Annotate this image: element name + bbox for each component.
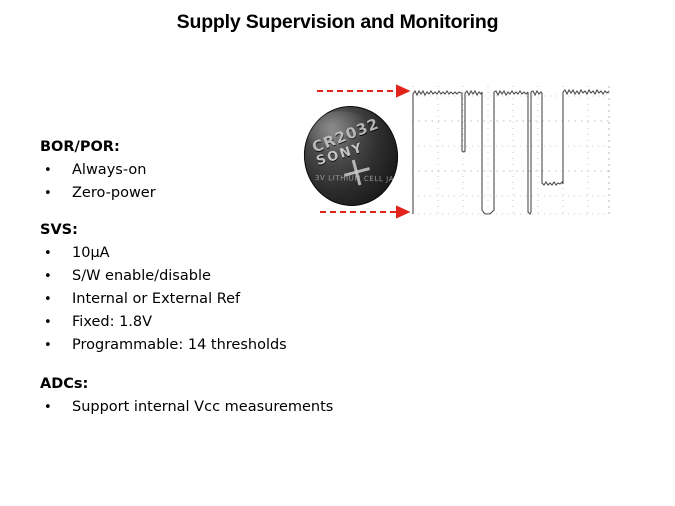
figure-supply-monitoring: CR2032 SONY 3V LITHIUM CELL JAPAN xyxy=(300,70,620,230)
list-item: • Fixed: 1.8V xyxy=(40,311,460,334)
list-item-label: Support internal Vcc measurements xyxy=(72,396,333,419)
list-item: • Support internal Vcc measurements xyxy=(40,396,460,419)
group-svs: SVS: • 10µA • S/W enable/disable • Inter… xyxy=(40,219,460,357)
scope-svg xyxy=(410,78,620,226)
list-item-label: Fixed: 1.8V xyxy=(72,311,152,334)
scope-trace xyxy=(413,90,609,214)
list-item-label: Zero-power xyxy=(72,182,156,205)
scope-grid xyxy=(412,86,610,218)
spacer xyxy=(40,357,460,373)
battery-spec-label: 3V LITHIUM CELL JAPAN xyxy=(315,174,404,184)
bullet-icon: • xyxy=(40,242,72,265)
battery-image: CR2032 SONY 3V LITHIUM CELL JAPAN xyxy=(304,106,400,214)
scope-plot xyxy=(410,78,620,226)
bullet-icon: • xyxy=(40,396,72,419)
list-item: • Programmable: 14 thresholds xyxy=(40,334,460,357)
battery-face: CR2032 SONY 3V LITHIUM CELL JAPAN xyxy=(298,101,403,212)
bullet-icon: • xyxy=(40,159,72,182)
bullet-icon: • xyxy=(40,288,72,311)
group-heading-adcs: ADCs: xyxy=(40,373,460,396)
bullet-icon: • xyxy=(40,182,72,205)
battery-polarity-icon xyxy=(341,156,373,188)
list-item: • Internal or External Ref xyxy=(40,288,460,311)
group-adcs: ADCs: • Support internal Vcc measurement… xyxy=(40,373,460,419)
bullet-icon: • xyxy=(40,265,72,288)
list-item: • 10µA xyxy=(40,242,460,265)
list-item-label: Always-on xyxy=(72,159,146,182)
list-item-label: S/W enable/disable xyxy=(72,265,211,288)
bullet-icon: • xyxy=(40,334,72,357)
list-item-label: Programmable: 14 thresholds xyxy=(72,334,287,357)
bullet-icon: • xyxy=(40,311,72,334)
list-item-label: 10µA xyxy=(72,242,110,265)
page-title: Supply Supervision and Monitoring xyxy=(0,11,675,34)
list-item-label: Internal or External Ref xyxy=(72,288,240,311)
list-item: • S/W enable/disable xyxy=(40,265,460,288)
